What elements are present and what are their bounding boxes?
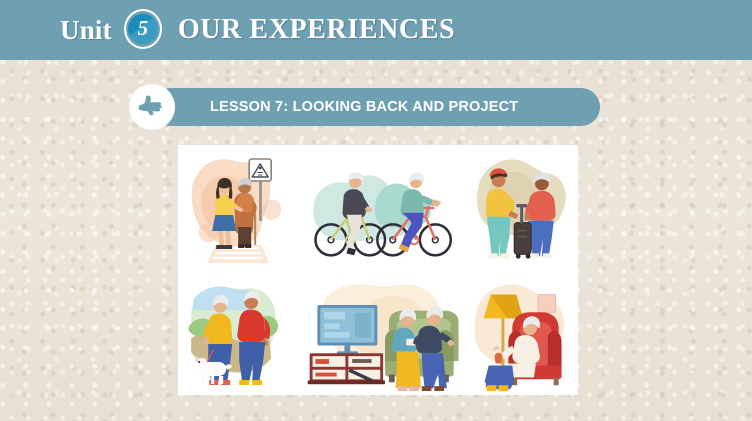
header-content: Unit 5 OUR EXPERIENCES — [60, 9, 455, 51]
illustration-elderly-couple-cycling — [300, 145, 464, 270]
illustration-watching-tv-on-sofa — [300, 270, 464, 395]
pointing-hand-icon — [129, 84, 175, 130]
illustration-helping-elderly-cross-street — [178, 145, 300, 270]
illustration-walking-dog-in-park — [178, 270, 300, 395]
unit-number-badge: 5 — [124, 9, 164, 51]
slide-canvas: Unit 5 OUR EXPERIENCES LESSON 7: LOOKING… — [0, 0, 752, 421]
unit-number: 5 — [124, 9, 162, 49]
illustration-grid — [178, 145, 578, 395]
unit-label: Unit — [60, 17, 112, 44]
lesson-banner: LESSON 7: LOOKING BACK AND PROJECT — [152, 88, 600, 126]
illustration-panel — [178, 145, 578, 395]
illustration-relaxing-in-armchair — [465, 270, 578, 395]
illustration-travellers-with-suitcase — [465, 145, 578, 270]
page-title: OUR EXPERIENCES — [178, 16, 455, 44]
header-band: Unit 5 OUR EXPERIENCES — [0, 0, 752, 60]
lesson-title: LESSON 7: LOOKING BACK AND PROJECT — [210, 100, 518, 115]
